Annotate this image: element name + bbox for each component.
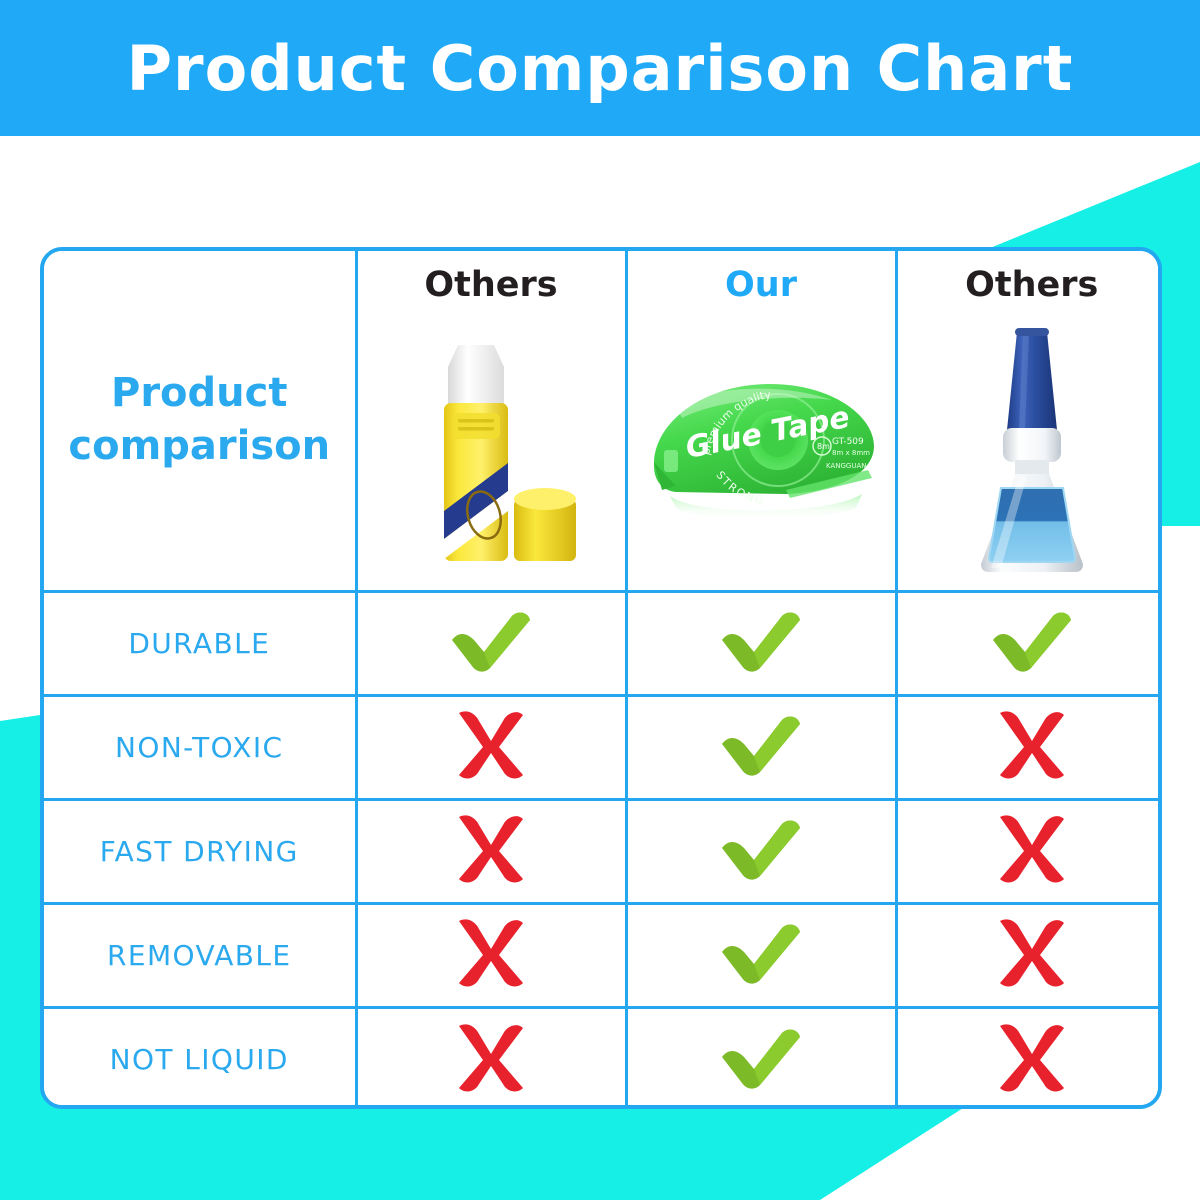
feature-label: REMOVABLE (107, 939, 291, 972)
corner-title-line2: comparison (58, 420, 341, 473)
header-cell-our-glue-tape: Our (626, 251, 896, 591)
cell-our-fast-drying (626, 799, 896, 903)
cell-our-not-liquid (626, 1007, 896, 1109)
glue-stick-icon (396, 323, 586, 573)
feature-label-cell: DURABLE (44, 591, 356, 695)
cross-icon (453, 917, 529, 993)
cell-others-b-removable (896, 903, 1162, 1007)
glue-tape-dispenser-icon: premium quality Glue Tape STRONG GT-509 … (636, 358, 886, 538)
product-image-glue-tape: premium quality Glue Tape STRONG GT-509 … (628, 313, 895, 584)
svg-text:8m: 8m (817, 442, 830, 451)
svg-text:8m x 8mm: 8m x 8mm (832, 449, 870, 457)
check-icon (718, 818, 804, 884)
cross-icon (453, 813, 529, 889)
table-row: REMOVABLE (44, 903, 1162, 1007)
header-cell-others-glue-stick: Others (356, 251, 626, 591)
cross-icon (453, 1022, 529, 1098)
feature-label-cell: FAST DRYING (44, 799, 356, 903)
page-title: Product Comparison Chart (127, 32, 1074, 105)
check-icon (718, 714, 804, 780)
super-glue-bottle-icon (957, 318, 1107, 578)
table-row: NON-TOXIC (44, 695, 1162, 799)
feature-label: NOT LIQUID (110, 1043, 289, 1076)
comparison-table: Product comparison Others (44, 251, 1162, 1109)
check-icon (718, 1027, 804, 1093)
feature-label: FAST DRYING (100, 835, 299, 868)
svg-text:GT-509: GT-509 (832, 437, 864, 447)
svg-text:KANGGUAN: KANGGUAN (826, 462, 867, 470)
cross-icon (994, 709, 1070, 785)
cell-our-durable (626, 591, 896, 695)
cell-others-a-not-liquid (356, 1007, 626, 1109)
header-cell-others-super-glue: Others (896, 251, 1162, 591)
check-icon (718, 610, 804, 676)
column-header-our: Our (628, 265, 895, 305)
table-header-row: Product comparison Others (44, 251, 1162, 591)
cross-icon (994, 1022, 1070, 1098)
column-header-others-b: Others (898, 265, 1163, 305)
feature-label-cell: NOT LIQUID (44, 1007, 356, 1109)
cell-others-a-non-toxic (356, 695, 626, 799)
check-icon (448, 610, 534, 676)
cell-others-b-fast-drying (896, 799, 1162, 903)
cell-others-a-durable (356, 591, 626, 695)
corner-title: Product comparison (44, 367, 355, 473)
cell-others-b-not-liquid (896, 1007, 1162, 1109)
corner-title-line1: Product (58, 367, 341, 420)
header-cell-corner-title: Product comparison (44, 251, 356, 591)
check-icon (989, 610, 1075, 676)
cross-icon (994, 917, 1070, 993)
table-row: NOT LIQUID (44, 1007, 1162, 1109)
cross-icon (994, 813, 1070, 889)
cell-our-removable (626, 903, 896, 1007)
product-image-super-glue (898, 313, 1163, 584)
cell-others-b-non-toxic (896, 695, 1162, 799)
cell-our-non-toxic (626, 695, 896, 799)
cell-others-a-removable (356, 903, 626, 1007)
cell-others-b-durable (896, 591, 1162, 695)
comparison-table-container: Product comparison Others (40, 247, 1162, 1109)
feature-label: NON-TOXIC (115, 731, 283, 764)
cross-icon (453, 709, 529, 785)
page-banner: Product Comparison Chart (0, 0, 1200, 136)
product-image-glue-stick (358, 313, 625, 584)
table-row: FAST DRYING (44, 799, 1162, 903)
table-row: DURABLE (44, 591, 1162, 695)
feature-label-cell: REMOVABLE (44, 903, 356, 1007)
check-icon (718, 922, 804, 988)
column-header-others-a: Others (358, 265, 625, 305)
cell-others-a-fast-drying (356, 799, 626, 903)
feature-label-cell: NON-TOXIC (44, 695, 356, 799)
feature-label: DURABLE (128, 627, 270, 660)
